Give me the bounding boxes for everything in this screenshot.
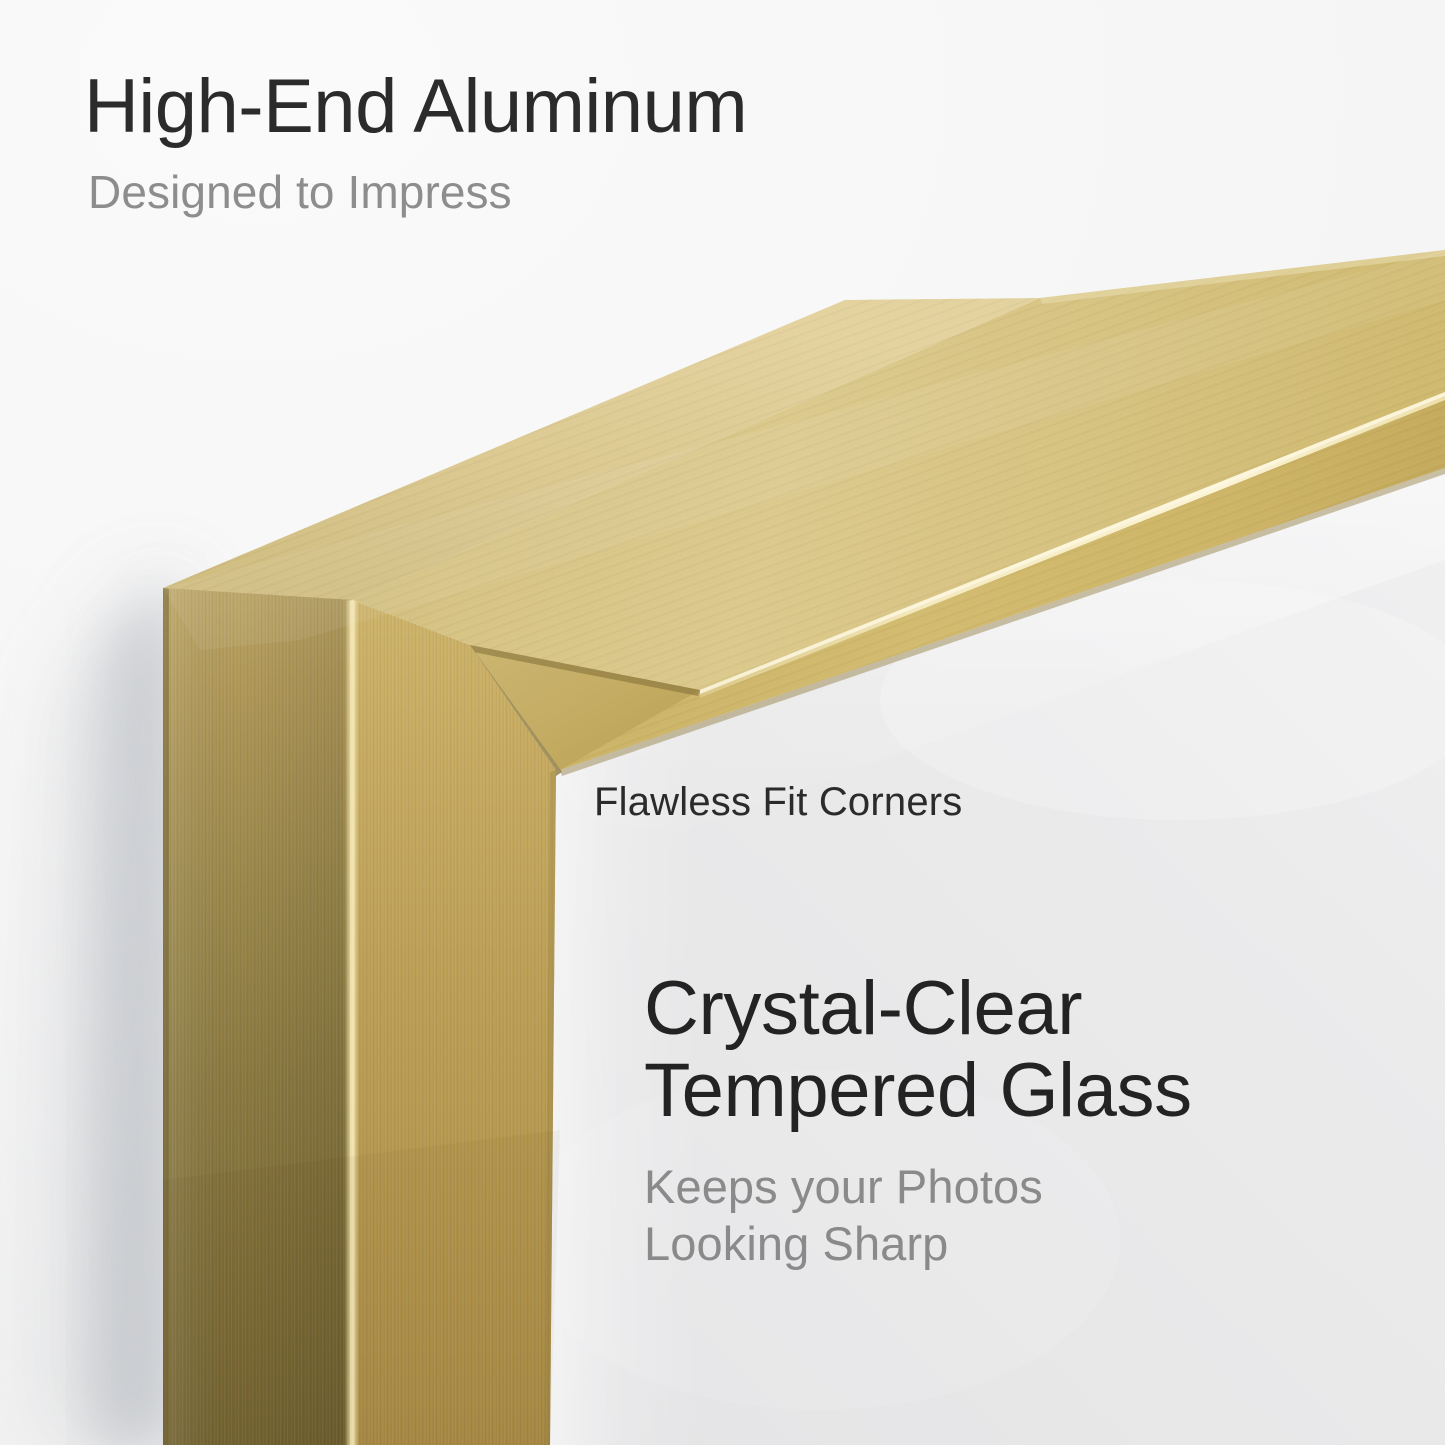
glass-sub-line-1: Keeps your Photos [644,1158,1404,1215]
wall-drop-shadow [10,575,170,1445]
glass-feature-subtitle: Keeps your Photos Looking Sharp [644,1158,1404,1273]
glass-sub-line-2: Looking Sharp [644,1215,1404,1272]
page-subtitle: Designed to Impress [88,168,1044,216]
corner-callout-label: Flawless Fit Corners [594,780,963,824]
glass-feature-block: Crystal-Clear Tempered Glass Keeps your … [644,968,1404,1273]
glass-title-line-1: Crystal-Clear [644,968,1404,1050]
product-feature-image: High-End Aluminum Designed to Impress Fl… [0,0,1445,1445]
headline-block: High-End Aluminum Designed to Impress [84,68,1044,216]
glass-title-line-2: Tempered Glass [644,1050,1404,1132]
glass-feature-title: Crystal-Clear Tempered Glass [644,968,1404,1132]
page-title: High-End Aluminum [84,68,1044,146]
